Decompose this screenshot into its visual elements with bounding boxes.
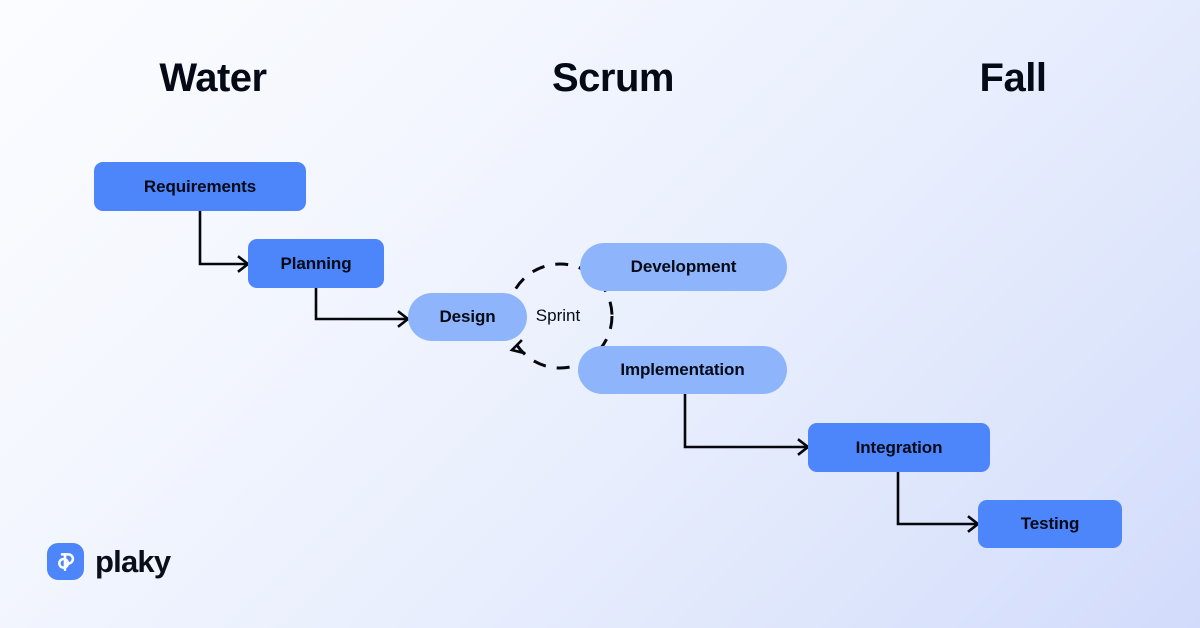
plaky-logo-icon bbox=[47, 543, 84, 580]
node-integration[interactable]: Integration bbox=[808, 423, 990, 472]
phase-title-scrum: Scrum bbox=[552, 58, 674, 98]
node-testing[interactable]: Testing bbox=[978, 500, 1122, 548]
arrow-into-testing-icon bbox=[969, 517, 978, 531]
node-implementation[interactable]: Implementation bbox=[578, 346, 787, 394]
arrow-sprint-loop-icon bbox=[512, 341, 524, 353]
connector-implementation-to-integration bbox=[685, 394, 806, 447]
sprint-loop-label: Sprint bbox=[536, 306, 580, 326]
node-planning[interactable]: Planning bbox=[248, 239, 384, 288]
connector-planning-to-design bbox=[316, 288, 406, 319]
node-design[interactable]: Design bbox=[408, 293, 527, 341]
phase-title-water: Water bbox=[159, 58, 266, 98]
arrow-into-planning-icon bbox=[239, 257, 248, 271]
phase-title-fall: Fall bbox=[980, 58, 1047, 98]
arrow-into-design-icon bbox=[399, 312, 408, 326]
plaky-wordmark: plaky bbox=[95, 546, 170, 577]
arrow-into-integration-icon bbox=[799, 440, 808, 454]
diagram-canvas: Water Scrum Fall Requirements Planning D… bbox=[0, 0, 1200, 628]
connector-requirements-to-planning bbox=[200, 211, 246, 264]
connector-integration-to-testing bbox=[898, 472, 976, 524]
plaky-logo[interactable]: plaky bbox=[47, 543, 170, 580]
node-requirements[interactable]: Requirements bbox=[94, 162, 306, 211]
node-development[interactable]: Development bbox=[580, 243, 787, 291]
